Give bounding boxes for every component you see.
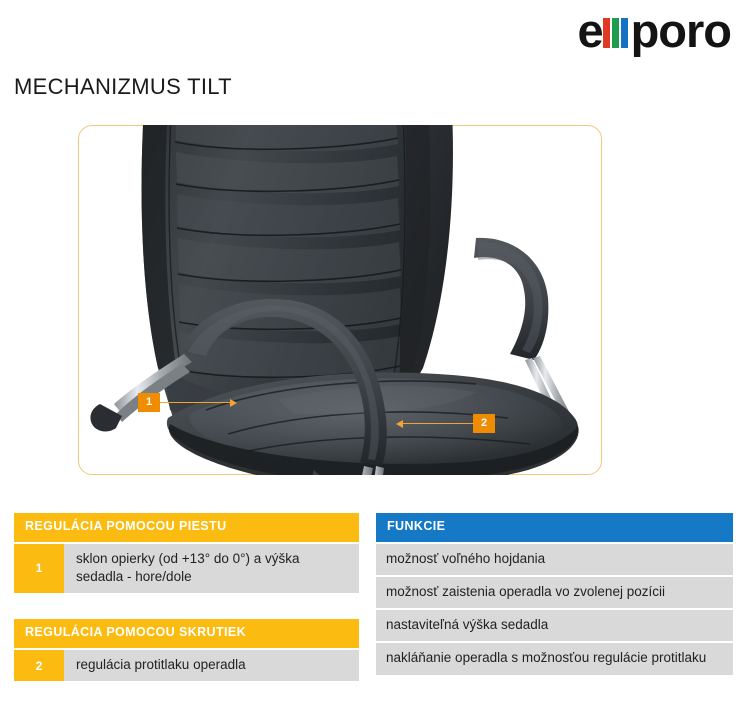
table-row: nakláňanie operadla s možnosťou reguláci…	[376, 643, 733, 674]
right-tables-column: FUNKCIE možnosť voľného hojdania možnosť…	[376, 513, 733, 675]
table-row: 2 regulácia protitlaku operadla	[14, 650, 359, 681]
callout-1-badge: 1	[138, 393, 160, 412]
callout-marker-1: 1	[138, 393, 237, 412]
table-row: nastaviteľná výška sedadla	[376, 610, 733, 641]
emporo-wordmark: e poro	[577, 7, 731, 54]
table-regulacia-skrutiek: REGULÁCIA POMOCOU SKRUTIEK 2 regulácia p…	[14, 619, 359, 681]
gas-cylinder	[321, 491, 364, 493]
table-regulacia-piestu: REGULÁCIA POMOCOU PIESTU 1 sklon opierky…	[14, 513, 359, 593]
table-row: možnosť voľného hojdania	[376, 544, 733, 575]
callout-marker-2: 2	[396, 414, 495, 433]
row-number-badge: 1	[14, 544, 64, 593]
chair-photo	[78, 118, 602, 493]
row-text: sklon opierky (od +13° do 0°) a výška se…	[64, 544, 359, 593]
callout-1-arrow-right-icon	[230, 399, 237, 407]
tension-knob	[416, 490, 462, 493]
tilt-lever	[245, 474, 334, 493]
row-text: možnosť voľného hojdania	[376, 544, 733, 575]
row-text: možnosť zaistenia operadla vo zvolenej p…	[376, 577, 733, 608]
table-gap	[14, 593, 359, 619]
table-header-funkcie: FUNKCIE	[376, 513, 733, 542]
table-funkcie: FUNKCIE možnosť voľného hojdania možnosť…	[376, 513, 733, 675]
callout-2-badge: 2	[473, 414, 495, 433]
table-row: možnosť zaistenia operadla vo zvolenej p…	[376, 577, 733, 608]
left-tables-column: REGULÁCIA POMOCOU PIESTU 1 sklon opierky…	[14, 513, 359, 681]
logo-bar-red	[603, 18, 610, 48]
logo-letters-poro: poro	[631, 7, 731, 54]
callout-2-arrow-left-icon	[396, 420, 403, 428]
table-header-skrutiek: REGULÁCIA POMOCOU SKRUTIEK	[14, 619, 359, 648]
row-text: nakláňanie operadla s možnosťou reguláci…	[376, 643, 733, 674]
page-title: MECHANIZMUS TILT	[14, 74, 232, 100]
chair-illustration	[78, 118, 602, 493]
logo-bar-green	[612, 18, 619, 48]
callout-2-line	[403, 423, 473, 425]
logo-letter-m-bars	[603, 18, 630, 48]
row-text: regulácia protitlaku operadla	[64, 650, 359, 681]
logo-letter-e: e	[577, 7, 602, 54]
brand-logo: e poro	[577, 6, 731, 54]
logo-bar-blue	[621, 18, 628, 48]
row-text: nastaviteľná výška sedadla	[376, 610, 733, 641]
table-row: 1 sklon opierky (od +13° do 0°) a výška …	[14, 544, 359, 593]
callout-1-line	[160, 402, 230, 404]
row-number-badge: 2	[14, 650, 64, 681]
table-header-piestu: REGULÁCIA POMOCOU PIESTU	[14, 513, 359, 542]
